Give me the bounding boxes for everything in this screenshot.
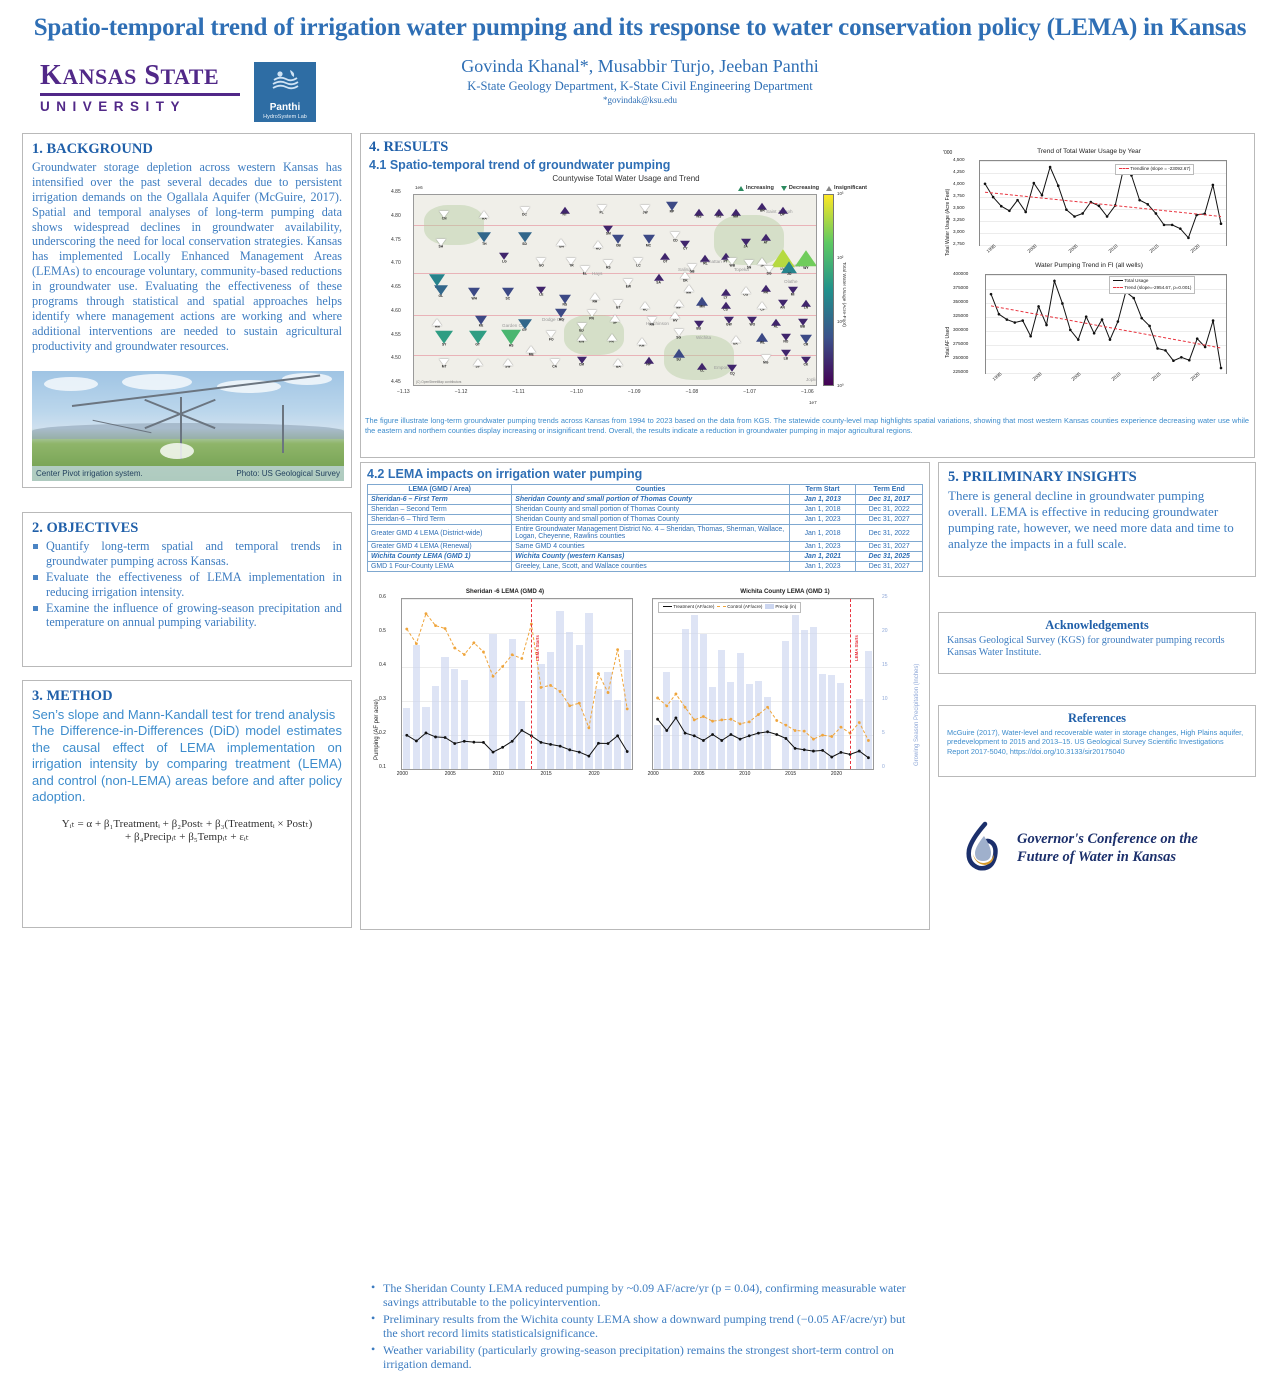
county-code-label: LE	[536, 294, 546, 297]
triangle-down-icon	[435, 330, 453, 343]
county-map-figure: Countywise Total Water Usage and Trend I…	[391, 174, 861, 404]
x-axis-tick: −1.13	[397, 389, 410, 395]
county-code-label: EL	[580, 273, 590, 276]
county-code-label: JO	[781, 273, 797, 276]
table-cell: Greeley, Lane, Scott, and Wallace counti…	[512, 562, 790, 572]
findings-list: The Sheridan County LEMA reduced pumping…	[369, 1281, 914, 1373]
logo-group: KANSAS STATE UNIVERSITY Panthi HydroSyst…	[40, 62, 316, 122]
county-code-label: GO	[536, 265, 546, 268]
county-code-label: KW	[577, 341, 587, 344]
y-axis-exponent: 1e6	[415, 185, 423, 190]
county-marker[interactable]: HS	[501, 329, 521, 348]
county-code-label: RO	[593, 248, 603, 251]
governors-conference-text: Governor's Conference on the Future of W…	[1017, 830, 1198, 866]
table-cell: Dec 31, 2027	[856, 542, 923, 552]
y-axis-tick: 3,750	[953, 193, 965, 198]
triangle-up-icon	[556, 238, 566, 245]
county-code-label: SA	[654, 281, 664, 284]
county-code-label: SU	[673, 358, 685, 361]
county-code-label: WH	[468, 297, 480, 300]
county-marker[interactable]: LY	[721, 289, 731, 300]
county-marker[interactable]: SC	[502, 288, 514, 301]
map-vegetation	[424, 205, 484, 245]
triangle-down-icon	[577, 323, 587, 330]
triangle-down-icon	[429, 274, 445, 286]
county-marker[interactable]: DC	[520, 207, 530, 218]
legend-label: Trendline (slope = -23092.67)	[1130, 166, 1190, 171]
county-marker[interactable]: MT	[439, 359, 449, 370]
gov-line-1: Governor's Conference on the	[1017, 830, 1198, 848]
county-code-label: PL	[597, 212, 607, 215]
county-marker[interactable]: SY	[435, 330, 453, 347]
y-axis-tick: 0.2	[379, 730, 386, 736]
county-code-label: MR	[684, 292, 694, 295]
page-title: Spatio-temporal trend of irrigation wate…	[0, 14, 1280, 42]
map-road	[414, 273, 816, 274]
table-cell: Greater GMD 4 LEMA (District-wide)	[368, 525, 512, 542]
county-marker[interactable]: RN	[647, 316, 657, 327]
map-city-label: Olathe	[784, 279, 798, 284]
county-marker[interactable]: SF	[610, 314, 620, 325]
county-marker[interactable]: CK	[801, 356, 811, 367]
triangle-up-icon	[795, 251, 817, 267]
county-marker[interactable]: OT	[660, 253, 670, 264]
table-cell: Jan 1, 2023	[789, 562, 856, 572]
county-marker[interactable]: HM	[432, 318, 442, 329]
county-code-label: GW	[724, 324, 734, 327]
y-axis-tick: 4.45	[391, 379, 401, 385]
table-cell: Dec 31, 2022	[856, 525, 923, 542]
county-marker[interactable]: SU	[673, 349, 685, 362]
triangle-down-icon	[670, 232, 680, 239]
county-marker[interactable]: GH	[556, 238, 566, 249]
chart-legend: Trendline (slope = -23092.67)	[1115, 164, 1194, 175]
triangle-outline-icon	[826, 186, 832, 191]
references-heading: References	[947, 711, 1247, 726]
county-marker[interactable]: SN	[744, 259, 754, 270]
county-marker[interactable]: CF	[757, 302, 767, 313]
county-marker[interactable]: EK	[731, 335, 741, 346]
plot-area[interactable]: LEMA Starts	[401, 598, 633, 770]
county-marker[interactable]: WB	[727, 257, 737, 268]
objectives-panel: 2. OBJECTIVES Quantify long-term spatial…	[22, 512, 352, 667]
county-code-label: OB	[612, 244, 624, 247]
gridline	[653, 769, 873, 770]
method-text-1: Sen’s slope and Mann-Kandall test for tr…	[32, 707, 342, 723]
county-code-label: WY	[795, 267, 817, 270]
table-cell: Jan 1, 2018	[789, 525, 856, 542]
cloud-shape	[122, 374, 192, 390]
column-header: Term Start	[789, 485, 856, 495]
triangle-down-icon	[469, 330, 487, 343]
county-marker[interactable]: ME	[526, 346, 536, 357]
lema-start-line	[531, 599, 532, 769]
county-marker[interactable]: LN	[801, 299, 811, 310]
county-marker[interactable]: BU	[694, 321, 704, 332]
triangle-down-icon	[674, 329, 684, 336]
triangle-up-icon	[613, 359, 623, 366]
county-marker[interactable]: SW	[503, 359, 513, 370]
table-body: Sheridan-6 – First TermSheridan County a…	[368, 495, 923, 572]
figure-caption: The figure illustrate long-term groundwa…	[365, 416, 1249, 435]
list-item: Evaluate the effectiveness of LEMA imple…	[32, 570, 342, 600]
county-marker[interactable]: EL	[580, 266, 590, 277]
county-marker[interactable]: BT	[613, 299, 623, 310]
photo-caption: Center Pivot irrigation system.	[36, 469, 143, 478]
kansas-county-map[interactable]: (C) OpenStreetMap contributors Saint Jos…	[413, 194, 817, 386]
county-code-label: CM	[577, 364, 587, 367]
triangle-up-icon	[731, 335, 741, 342]
county-code-label: AN	[778, 307, 788, 310]
county-marker[interactable]: SV	[473, 359, 483, 370]
list-item: The Sheridan County LEMA reduced pumping…	[369, 1281, 914, 1310]
chart-legend: Total Usage Trend (slope=-2954.67, p=0.0…	[1109, 276, 1195, 294]
county-marker[interactable]: EW	[623, 278, 633, 289]
county-code-label: WS	[694, 216, 704, 219]
y-axis-label: Total Water Usage (Acre Feet)	[945, 189, 951, 256]
colorbar-tick: 10¹	[837, 319, 843, 324]
county-marker[interactable]: HG	[555, 309, 567, 322]
author-block: Govinda Khanal*, Musabbir Turjo, Jeeban …	[330, 56, 950, 105]
county-code-label: KM	[637, 345, 647, 348]
county-marker[interactable]: DG	[764, 266, 774, 277]
triangle-up-icon	[610, 314, 620, 321]
unit-note: '000	[943, 150, 952, 156]
basemap-credit: (C) OpenStreetMap contributors	[416, 380, 461, 384]
county-marker[interactable]: RO	[593, 240, 603, 251]
insights-heading: 5. PRILIMINARY INSIGHTS	[948, 469, 1246, 486]
chart-legend: Treatment (AF/acre) Control (AF/acre) Pr…	[658, 602, 801, 613]
x-axis-tick: 2015	[785, 771, 796, 777]
y-axis-tick: 4.75	[391, 237, 401, 243]
county-marker[interactable]: FO	[546, 331, 556, 342]
county-code-label: PR	[607, 341, 617, 344]
county-marker[interactable]: LB	[781, 350, 791, 361]
county-marker[interactable]: GL	[434, 285, 448, 299]
table-cell: Sheridan – Second Term	[368, 505, 512, 515]
table-cell: Dec 31, 2025	[856, 552, 923, 562]
governors-conference-logo: Governor's Conference on the Future of W…	[955, 818, 1255, 878]
county-code-label: ME	[526, 353, 536, 356]
water-spray	[160, 443, 194, 459]
county-marker[interactable]: WL	[756, 332, 768, 345]
lema-table: LEMA (GMD / Area) Counties Term Start Te…	[367, 484, 923, 572]
ksu-university-text: UNIVERSITY	[40, 99, 240, 114]
y-axis-tick: 350000	[953, 299, 968, 304]
county-marker[interactable]: BR	[757, 202, 767, 213]
y-axis-tick: 0.4	[379, 662, 386, 668]
county-marker[interactable]: SA	[654, 274, 664, 285]
triangle-down-icon	[439, 211, 449, 218]
county-marker[interactable]: MC	[643, 235, 655, 248]
county-marker[interactable]: KM	[637, 337, 647, 348]
county-marker[interactable]: RL	[700, 255, 710, 266]
county-code-label: BU	[694, 328, 704, 331]
county-code-label: CQ	[727, 372, 737, 375]
references-text: McGuire (2017), Water-level and recovera…	[947, 728, 1247, 756]
y-axis-tick: 4.55	[391, 332, 401, 338]
county-marker[interactable]: CS	[721, 302, 731, 313]
table-cell: Jan 1, 2018	[789, 505, 856, 515]
ksu-k: K	[40, 60, 62, 91]
county-marker[interactable]: CL	[697, 363, 707, 374]
county-marker[interactable]: BB	[798, 318, 808, 329]
county-code-label: RS	[603, 267, 613, 270]
county-marker[interactable]: DP	[778, 207, 788, 218]
county-marker[interactable]: CN	[439, 211, 449, 222]
triangle-up-icon	[674, 299, 684, 306]
colorbar-tick: 10²	[837, 255, 843, 260]
map-city-label: Wichita	[696, 335, 711, 340]
plot-area[interactable]: LEMA Starts	[652, 598, 874, 770]
ksu-ansas: ANSAS	[62, 64, 137, 89]
county-marker[interactable]: HP	[644, 356, 654, 367]
county-code-label: RP	[666, 211, 678, 214]
y-axis-tick: 400000	[953, 271, 968, 276]
county-marker[interactable]: MP	[674, 299, 684, 310]
triangle-up-icon	[503, 359, 513, 366]
legend-total-usage: Total Usage	[1113, 278, 1191, 285]
table-cell: Wichita County (western Kansas)	[512, 552, 790, 562]
county-marker[interactable]: NS	[559, 294, 571, 307]
county-marker[interactable]: LG	[499, 253, 509, 264]
county-code-label: BB	[798, 326, 808, 329]
y-axis-label: Total AF Used	[945, 327, 951, 358]
county-marker[interactable]: AN	[778, 299, 788, 310]
county-marker[interactable]: SD	[518, 233, 532, 247]
county-code-label: RL	[700, 262, 710, 265]
triangle-up-icon	[781, 261, 797, 273]
county-marker[interactable]: KW	[577, 333, 587, 344]
county-marker[interactable]: SH	[436, 238, 446, 249]
trendline-swatch	[1113, 287, 1123, 288]
mountain-range	[32, 423, 344, 439]
y-axis-tick: 4.50	[391, 355, 401, 361]
list-item: Examine the influence of growing-season …	[32, 601, 342, 631]
county-code-label: MP	[674, 307, 684, 310]
county-marker[interactable]: MN	[696, 296, 708, 309]
county-marker[interactable]: PR	[607, 333, 617, 344]
county-code-label: JA	[741, 246, 751, 249]
column-header: Term End	[856, 485, 923, 495]
county-marker[interactable]: FR	[761, 285, 771, 296]
county-marker[interactable]: MI	[788, 287, 798, 298]
county-code-label: MN	[696, 306, 708, 309]
panthi-label: Panthi	[270, 103, 301, 114]
county-marker[interactable]: CD	[670, 232, 680, 243]
triangle-up-icon	[473, 359, 483, 366]
county-marker[interactable]: GW	[724, 316, 734, 327]
county-code-label: JW	[640, 212, 650, 215]
county-marker[interactable]: CY	[680, 240, 690, 251]
table-cell: Jan 1, 2013	[789, 495, 856, 505]
county-marker[interactable]: LC	[633, 257, 643, 268]
table-row: GMD 1 Four-County LEMAGreeley, Lane, Sco…	[368, 562, 923, 572]
county-marker[interactable]: OB	[612, 235, 624, 248]
county-marker[interactable]: WS	[694, 209, 704, 220]
county-marker[interactable]: CM	[577, 356, 587, 367]
legend-label: Precip (in)	[775, 604, 796, 609]
county-code-label: DG	[764, 273, 774, 276]
county-marker[interactable]: RP	[666, 201, 678, 214]
photo-credit: Photo: US Geological Survey	[236, 469, 340, 478]
table-header-row: LEMA (GMD / Area) Counties Term Start Te…	[368, 485, 923, 495]
y-axis-tick: 0.1	[379, 764, 386, 770]
y-axis-tick: 4,250	[953, 169, 965, 174]
county-marker[interactable]: DK	[680, 272, 690, 283]
legend-increasing: Increasing	[738, 185, 774, 191]
x-axis-exponent: 1e7	[809, 400, 817, 405]
table-cell: Jan 1, 2023	[789, 542, 856, 552]
triangle-down-icon	[744, 259, 754, 266]
county-code-label: SY	[435, 344, 453, 347]
chart-title: Sheridan -6 LEMA (GMD 4)	[369, 588, 641, 595]
county-marker[interactable]: CR	[800, 334, 812, 347]
triangle-up-icon	[684, 285, 694, 292]
triangle-down-icon	[597, 204, 607, 211]
county-marker[interactable]: SG	[674, 329, 684, 340]
county-marker[interactable]: WY	[795, 251, 817, 271]
poster-root: Spatio-temporal trend of irrigation wate…	[0, 0, 1280, 960]
x-axis-tick: 2005	[693, 771, 704, 777]
triangle-down-icon	[761, 354, 771, 361]
list-item: Quantify long-term spatial and temporal …	[32, 539, 342, 569]
county-marker[interactable]: PN	[587, 310, 597, 321]
triangle-down-icon	[623, 278, 633, 285]
y-axis-tick: 3,500	[953, 205, 965, 210]
county-marker[interactable]: PL	[597, 204, 607, 215]
county-marker[interactable]: MS	[714, 209, 724, 220]
county-marker[interactable]: OS	[741, 287, 751, 298]
table-cell: Sheridan County and small portion of Tho…	[512, 515, 790, 525]
x-axis-tick: −1.07	[743, 389, 756, 395]
county-code-label: MT	[439, 366, 449, 369]
y-axis-tick: 275000	[953, 341, 968, 346]
county-marker[interactable]: NM	[731, 209, 741, 220]
county-code-label: SV	[473, 366, 483, 369]
acknowledgements-text: Kansas Geological Survey (KGS) for groun…	[947, 635, 1247, 659]
county-marker[interactable]: JW	[640, 204, 650, 215]
county-marker[interactable]: TH	[477, 233, 491, 247]
county-code-label: EW	[623, 286, 633, 289]
chart-title: Trend of Total Water Usage by Year	[939, 148, 1239, 155]
county-marker[interactable]: CA	[550, 359, 560, 370]
county-code-label: MG	[761, 362, 771, 365]
triangle-down-icon	[550, 359, 560, 366]
county-marker[interactable]: BA	[613, 359, 623, 370]
county-code-label: NO	[781, 341, 791, 344]
x-axis-tick: −1.09	[628, 389, 641, 395]
y-axis-tick: 300000	[953, 327, 968, 332]
county-marker[interactable]: HV	[670, 312, 680, 323]
county-code-label: LG	[499, 260, 509, 263]
county-marker[interactable]: WO	[747, 316, 757, 327]
insights-panel: 5. PRILIMINARY INSIGHTS There is general…	[938, 462, 1256, 577]
county-marker[interactable]: NO	[781, 333, 791, 344]
triangle-up-icon	[526, 346, 536, 353]
county-code-label: TH	[477, 243, 491, 246]
triangle-down-icon	[687, 264, 697, 271]
legend-label: Total Usage	[1124, 278, 1148, 283]
fi-pumping-trend-chart: Water Pumping Trend in FI (all wells) To…	[939, 262, 1239, 269]
method-text-2: The Difference-in-Differences (DiD) mode…	[32, 723, 342, 805]
list-item: Preliminary results from the Wichita cou…	[369, 1312, 914, 1341]
list-item: Weather variability (particularly growin…	[369, 1343, 914, 1372]
county-code-label: SW	[503, 366, 513, 369]
county-marker[interactable]: KE	[475, 315, 487, 328]
triangle-up-icon	[757, 302, 767, 309]
insights-text: There is general decline in groundwater …	[948, 488, 1246, 551]
x-axis-tick: −1.10	[570, 389, 583, 395]
table-row: Sheridan-6 – Third TermSheridan County a…	[368, 515, 923, 525]
county-code-label: LY	[721, 296, 731, 299]
triangle-up-icon	[637, 337, 647, 344]
county-marker[interactable]: WH	[468, 288, 480, 301]
y-axis-tick: 375000	[953, 285, 968, 290]
background-panel: 1. BACKGROUND Groundwater storage deplet…	[22, 133, 352, 488]
county-marker[interactable]: JO	[781, 261, 797, 277]
county-code-label: SN	[744, 267, 754, 270]
county-marker[interactable]: RS	[603, 259, 613, 270]
table-row: Sheridan-6 – First TermSheridan County a…	[368, 495, 923, 505]
county-marker[interactable]: GT	[469, 330, 487, 347]
table-cell: Entire Groundwater Management District N…	[512, 525, 790, 542]
triangle-down-icon	[764, 266, 774, 273]
county-marker[interactable]: NT	[560, 207, 570, 218]
y-axis-tick: 4,500	[953, 157, 965, 162]
county-marker[interactable]: CQ	[727, 365, 737, 376]
total-water-usage-chart: '000 Trend of Total Water Usage by Year …	[939, 148, 1239, 155]
triangle-up-icon	[577, 333, 587, 340]
county-code-label: LN	[801, 307, 811, 310]
county-marker[interactable]: MG	[761, 354, 771, 365]
county-marker[interactable]: MR	[684, 285, 694, 296]
county-code-label: HM	[432, 326, 442, 329]
legend-label: Trend (slope=-2954.67, p=0.001)	[1124, 285, 1191, 290]
gridline	[402, 769, 632, 770]
triangle-down-icon	[613, 299, 623, 306]
county-marker[interactable]: RH	[590, 293, 600, 304]
county-code-label: EK	[731, 343, 741, 346]
objectives-heading: 2. OBJECTIVES	[32, 520, 342, 537]
county-marker[interactable]: AT	[761, 234, 771, 245]
triangle-up-icon	[670, 312, 680, 319]
county-code-label: GH	[556, 246, 566, 249]
county-code-label: NM	[731, 216, 741, 219]
county-code-label: CR	[800, 344, 812, 347]
x-axis-tick: −1.12	[455, 389, 468, 395]
triangle-down-icon	[587, 310, 597, 317]
triangle-up-icon	[680, 272, 690, 279]
water-droplet-icon	[955, 820, 1007, 876]
county-marker[interactable]: ED	[577, 323, 587, 334]
triangle-down-icon	[781, 186, 787, 191]
county-marker[interactable]: RA	[479, 211, 489, 222]
legend-control: Control (AF/acre)	[717, 604, 763, 609]
triangle-up-icon	[738, 186, 744, 191]
county-marker[interactable]: TR	[566, 257, 576, 268]
objectives-list: Quantify long-term spatial and temporal …	[32, 539, 342, 630]
table-cell: Dec 31, 2027	[856, 515, 923, 525]
county-marker[interactable]: LE	[536, 287, 546, 298]
column-header: LEMA (GMD / Area)	[368, 485, 512, 495]
county-marker[interactable]: AL	[771, 318, 781, 329]
legend-label: Treatment (AF/acre)	[673, 604, 714, 609]
colorbar	[823, 194, 834, 386]
county-marker[interactable]: RC	[640, 302, 650, 313]
county-marker[interactable]: GO	[536, 257, 546, 268]
county-marker[interactable]: JA	[741, 238, 751, 249]
